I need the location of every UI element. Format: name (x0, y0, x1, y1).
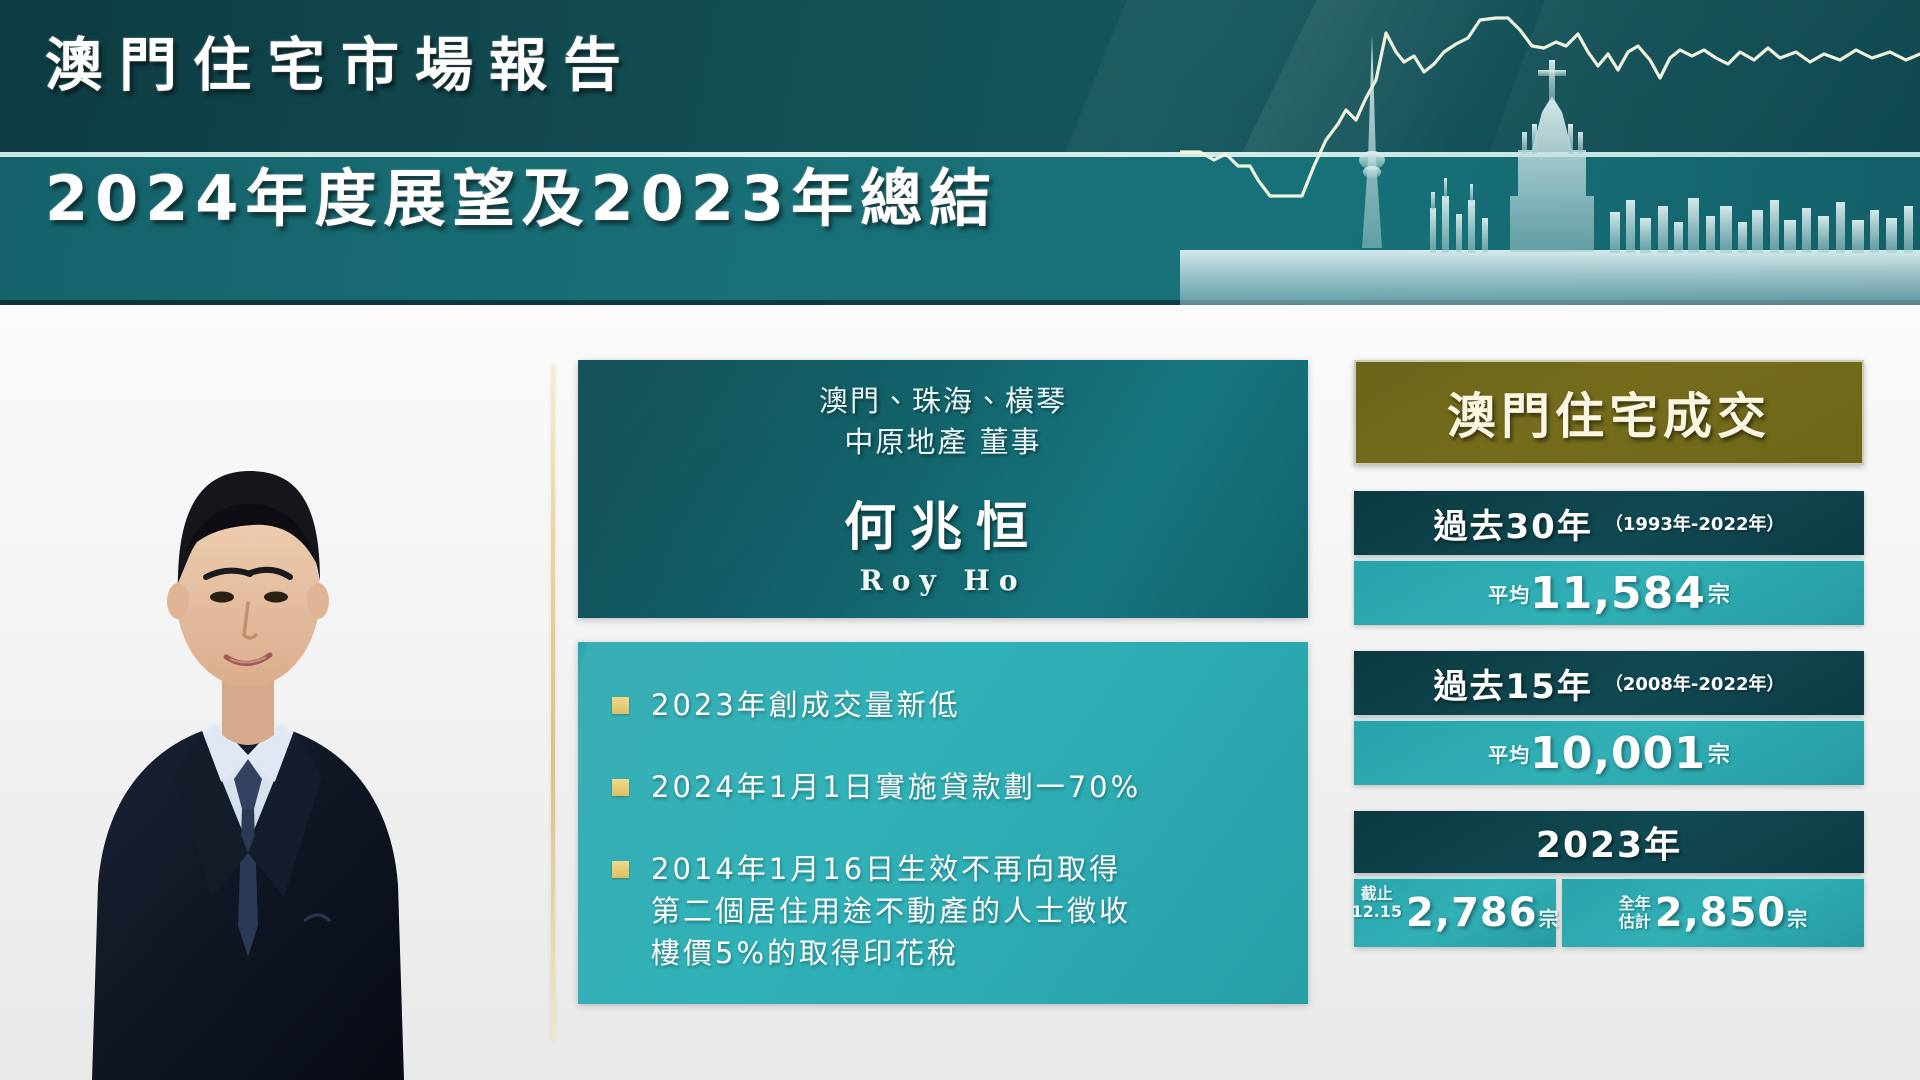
speaker-org: 澳門、珠海、橫琴 中原地產 董事 (819, 381, 1067, 463)
stat-value-30y-number: 11,584 (1530, 568, 1706, 619)
speaker-name-card: 澳門、珠海、橫琴 中原地產 董事 何兆恒 Roy Ho (578, 360, 1308, 618)
stat-cell-fullyear-number: 2,850 (1655, 890, 1787, 936)
header-graphics (1180, 0, 1920, 305)
transactions-panel-title-text: 澳門住宅成交 (1447, 377, 1771, 448)
bullet-2-line-1: 2024年1月1日實施貸款劃一70% (651, 766, 1141, 808)
stat-label-30y-range: （1993年-2022年） (1605, 510, 1785, 536)
square-bullet-icon (612, 779, 629, 796)
list-item: 2014年1月16日生效不再向取得 第二個居住用途不動產的人士徵收 樓價5%的取… (612, 848, 1274, 974)
stat-cell-fullyear-label: 全年 估計 (1619, 895, 1651, 932)
stat-cell-ytd-number: 2,786 (1406, 890, 1538, 936)
stat-value-15y-number: 10,001 (1530, 728, 1706, 779)
bullet-3-line-2: 第二個居住用途不動產的人士徵收 (651, 890, 1131, 932)
stat-value-15y-unit: 宗 (1708, 737, 1730, 769)
header-banner: 澳門住宅市場報告 2024年度展望及2023年總結 (0, 0, 1920, 310)
year-cells: 截止12.15 2,786 宗 全年 估計 2,850 (1354, 877, 1864, 947)
speaker-org-line2: 中原地產 董事 (819, 422, 1067, 463)
stat-cell-ytd: 截止12.15 2,786 宗 (1354, 877, 1556, 947)
gold-divider (551, 365, 555, 1040)
stat-cell-ytd-unit: 宗 (1539, 903, 1559, 932)
bullet-3-line-3: 樓價5%的取得印花稅 (651, 932, 1131, 974)
speaker-portrait (52, 285, 442, 1080)
transactions-panel: 澳門住宅成交 過去30年 （1993年-2022年） 平均 11,584 宗 過… (1354, 360, 1864, 947)
stat-label-30y-main: 過去30年 (1434, 499, 1593, 548)
speaker-name-zh: 何兆恒 (844, 485, 1042, 560)
slide-body: 澳門、珠海、橫琴 中原地產 董事 何兆恒 Roy Ho 2023年創成交量新低 … (0, 305, 1920, 1080)
stat-value-30y-prefix: 平均 (1488, 579, 1530, 608)
macau-skyline-icon (1180, 35, 1920, 305)
speaker-org-line1: 澳門、珠海、橫琴 (819, 381, 1067, 422)
square-bullet-icon (612, 861, 629, 878)
stat-value-30y: 平均 11,584 宗 (1354, 559, 1864, 625)
list-item: 2023年創成交量新低 (612, 684, 1274, 726)
transactions-panel-title: 澳門住宅成交 (1354, 360, 1864, 465)
list-item-text: 2024年1月1日實施貸款劃一70% (651, 766, 1141, 808)
stat-label-2023: 2023年 (1354, 811, 1864, 873)
list-item-text: 2014年1月16日生效不再向取得 第二個居住用途不動產的人士徵收 樓價5%的取… (651, 848, 1131, 974)
stat-label-15y-range: （2008年-2022年） (1605, 670, 1785, 696)
slide-root: 澳門住宅市場報告 2024年度展望及2023年總結 (0, 0, 1920, 1080)
stat-label-2023-text: 2023年 (1536, 816, 1682, 868)
bullet-3-line-1: 2014年1月16日生效不再向取得 (651, 848, 1131, 890)
stat-value-15y: 平均 10,001 宗 (1354, 719, 1864, 785)
stat-cell-fullyear-unit: 宗 (1787, 903, 1807, 932)
key-points-panel: 2023年創成交量新低 2024年1月1日實施貸款劃一70% 2014年1月16… (578, 642, 1308, 1004)
stat-value-15y-prefix: 平均 (1488, 739, 1530, 768)
page-subtitle: 2024年度展望及2023年總結 (45, 148, 998, 238)
stat-label-15y-main: 過去15年 (1434, 659, 1593, 708)
stat-cell-fullyear: 全年 估計 2,850 宗 (1562, 877, 1864, 947)
stat-label-30y: 過去30年 （1993年-2022年） (1354, 491, 1864, 555)
stat-cell-fullyear-label-line2: 估計 (1619, 913, 1651, 931)
stat-block-2023: 2023年 截止12.15 2,786 宗 全年 估計 (1354, 811, 1864, 947)
stat-label-15y: 過去15年 （2008年-2022年） (1354, 651, 1864, 715)
stat-cell-ytd-label: 截止12.15 (1351, 879, 1402, 922)
square-bullet-icon (612, 697, 629, 714)
page-title: 澳門住宅市場報告 (45, 18, 637, 102)
list-item-text: 2023年創成交量新低 (651, 684, 961, 726)
stat-value-30y-unit: 宗 (1708, 577, 1730, 609)
list-item: 2024年1月1日實施貸款劃一70% (612, 766, 1274, 808)
stat-block-15y: 過去15年 （2008年-2022年） 平均 10,001 宗 (1354, 651, 1864, 785)
speaker-name-en: Roy Ho (859, 564, 1026, 597)
bullet-1-line-1: 2023年創成交量新低 (651, 684, 961, 726)
stat-cell-fullyear-label-line1: 全年 (1619, 895, 1651, 913)
center-column: 澳門、珠海、橫琴 中原地產 董事 何兆恒 Roy Ho 2023年創成交量新低 … (578, 360, 1308, 1004)
stat-block-30y: 過去30年 （1993年-2022年） 平均 11,584 宗 (1354, 491, 1864, 625)
